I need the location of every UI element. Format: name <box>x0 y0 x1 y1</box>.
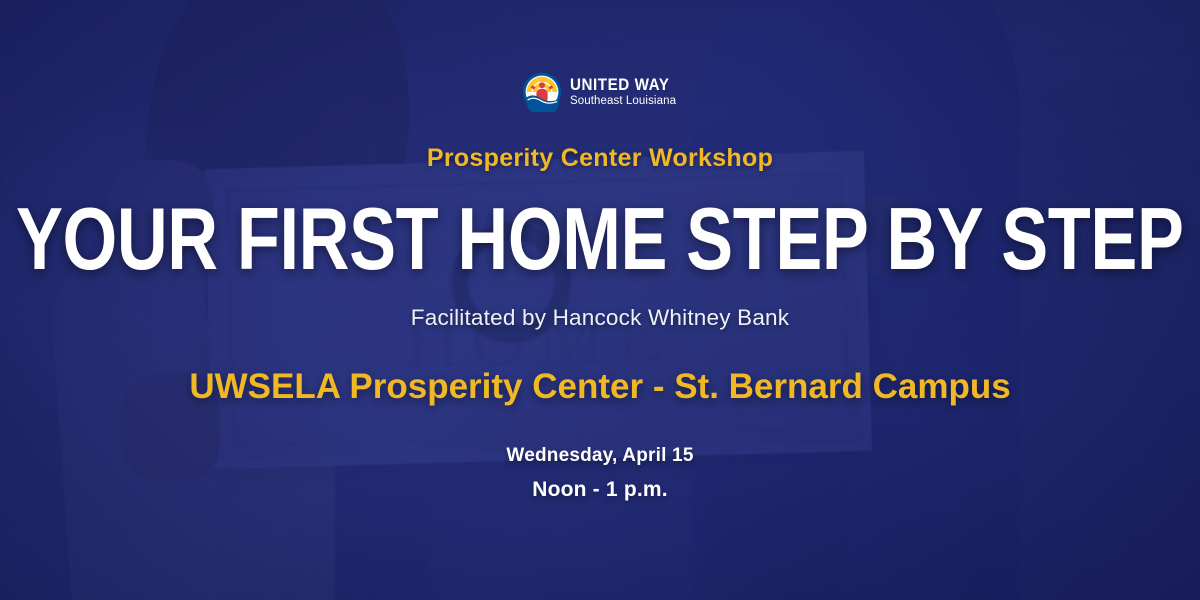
united-way-chapter: Southeast Louisiana <box>570 96 678 108</box>
banner-content: UNITED WAY Southeast Louisiana Prosperit… <box>0 0 1200 600</box>
event-date: Wednesday, April 15 <box>506 445 693 467</box>
event-time: Noon - 1 p.m. <box>532 478 668 502</box>
workshop-eyebrow: Prosperity Center Workshop <box>427 144 773 173</box>
event-headline: YOUR FIRST HOME STEP BY STEP <box>16 195 1184 283</box>
event-banner: HOME UNITED W <box>0 0 1200 600</box>
event-venue: UWSELA Prosperity Center - St. Bernard C… <box>189 367 1010 407</box>
event-facilitator: Facilitated by Hancock Whitney Bank <box>411 305 789 331</box>
united-way-name: UNITED WAY <box>570 77 669 94</box>
united-way-wordmark: UNITED WAY Southeast Louisiana <box>570 77 678 108</box>
united-way-logo: UNITED WAY Southeast Louisiana <box>522 72 678 112</box>
united-way-hand-rainbow-person-icon <box>522 72 562 112</box>
